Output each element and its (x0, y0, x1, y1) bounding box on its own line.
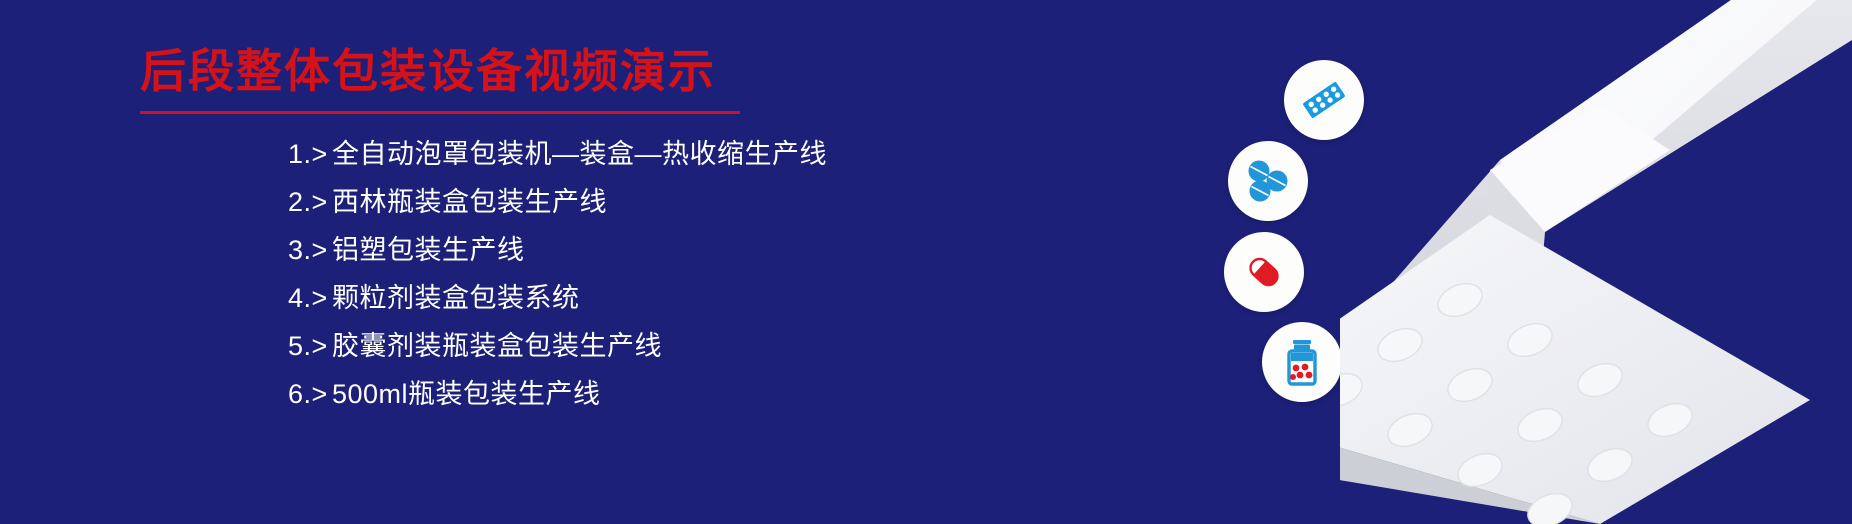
page-title: 后段整体包装设备视频演示 (140, 44, 716, 99)
list-item-index: 4.> (288, 283, 332, 314)
list-item[interactable]: 5.> 胶囊剂装瓶装盒包装生产线 (288, 324, 827, 372)
list-item[interactable]: 1.> 全自动泡罩包装机—装盒—热收缩生产线 (288, 132, 827, 180)
capsule-icon-badge[interactable] (1224, 232, 1304, 312)
list-item-index: 3.> (288, 235, 332, 266)
list-item[interactable]: 6.> 500ml瓶装包装生产线 (288, 372, 827, 420)
feature-list: 1.> 全自动泡罩包装机—装盒—热收缩生产线 2.> 西林瓶装盒包装生产线 3.… (288, 132, 827, 420)
list-item-label: 铝塑包装生产线 (332, 228, 525, 267)
list-item-label: 西林瓶装盒包装生产线 (332, 180, 607, 219)
list-item-label: 颗粒剂装盒包装系统 (332, 276, 580, 315)
blister-tray (1340, 215, 1810, 524)
capsule-icon (1237, 245, 1291, 299)
pill-bottle-icon-badge[interactable] (1262, 322, 1342, 402)
pill-bottle-icon (1275, 335, 1329, 389)
list-item-index: 6.> (288, 379, 332, 410)
list-item[interactable]: 4.> 颗粒剂装盒包装系统 (288, 276, 827, 324)
list-item[interactable]: 3.> 铝塑包装生产线 (288, 228, 827, 276)
blister-pack-carton-illustration (1340, 0, 1852, 524)
list-item-index: 2.> (288, 187, 332, 218)
list-item-label: 胶囊剂装瓶装盒包装生产线 (332, 324, 662, 363)
list-item-index: 1.> (288, 139, 332, 170)
promo-banner: 后段整体包装设备视频演示 1.> 全自动泡罩包装机—装盒—热收缩生产线 2.> … (0, 0, 1852, 524)
tablets-icon-badge[interactable] (1228, 141, 1308, 221)
list-item[interactable]: 2.> 西林瓶装盒包装生产线 (288, 180, 827, 228)
title-underline (140, 111, 740, 114)
list-item-label: 全自动泡罩包装机—装盒—热收缩生产线 (332, 132, 827, 171)
carton-illustration-svg (1340, 0, 1852, 524)
text-block: 后段整体包装设备视频演示 1.> 全自动泡罩包装机—装盒—热收缩生产线 2.> … (0, 0, 1000, 524)
list-item-index: 5.> (288, 331, 332, 362)
list-item-label: 500ml瓶装包装生产线 (332, 372, 601, 411)
tablets-icon (1241, 154, 1295, 208)
